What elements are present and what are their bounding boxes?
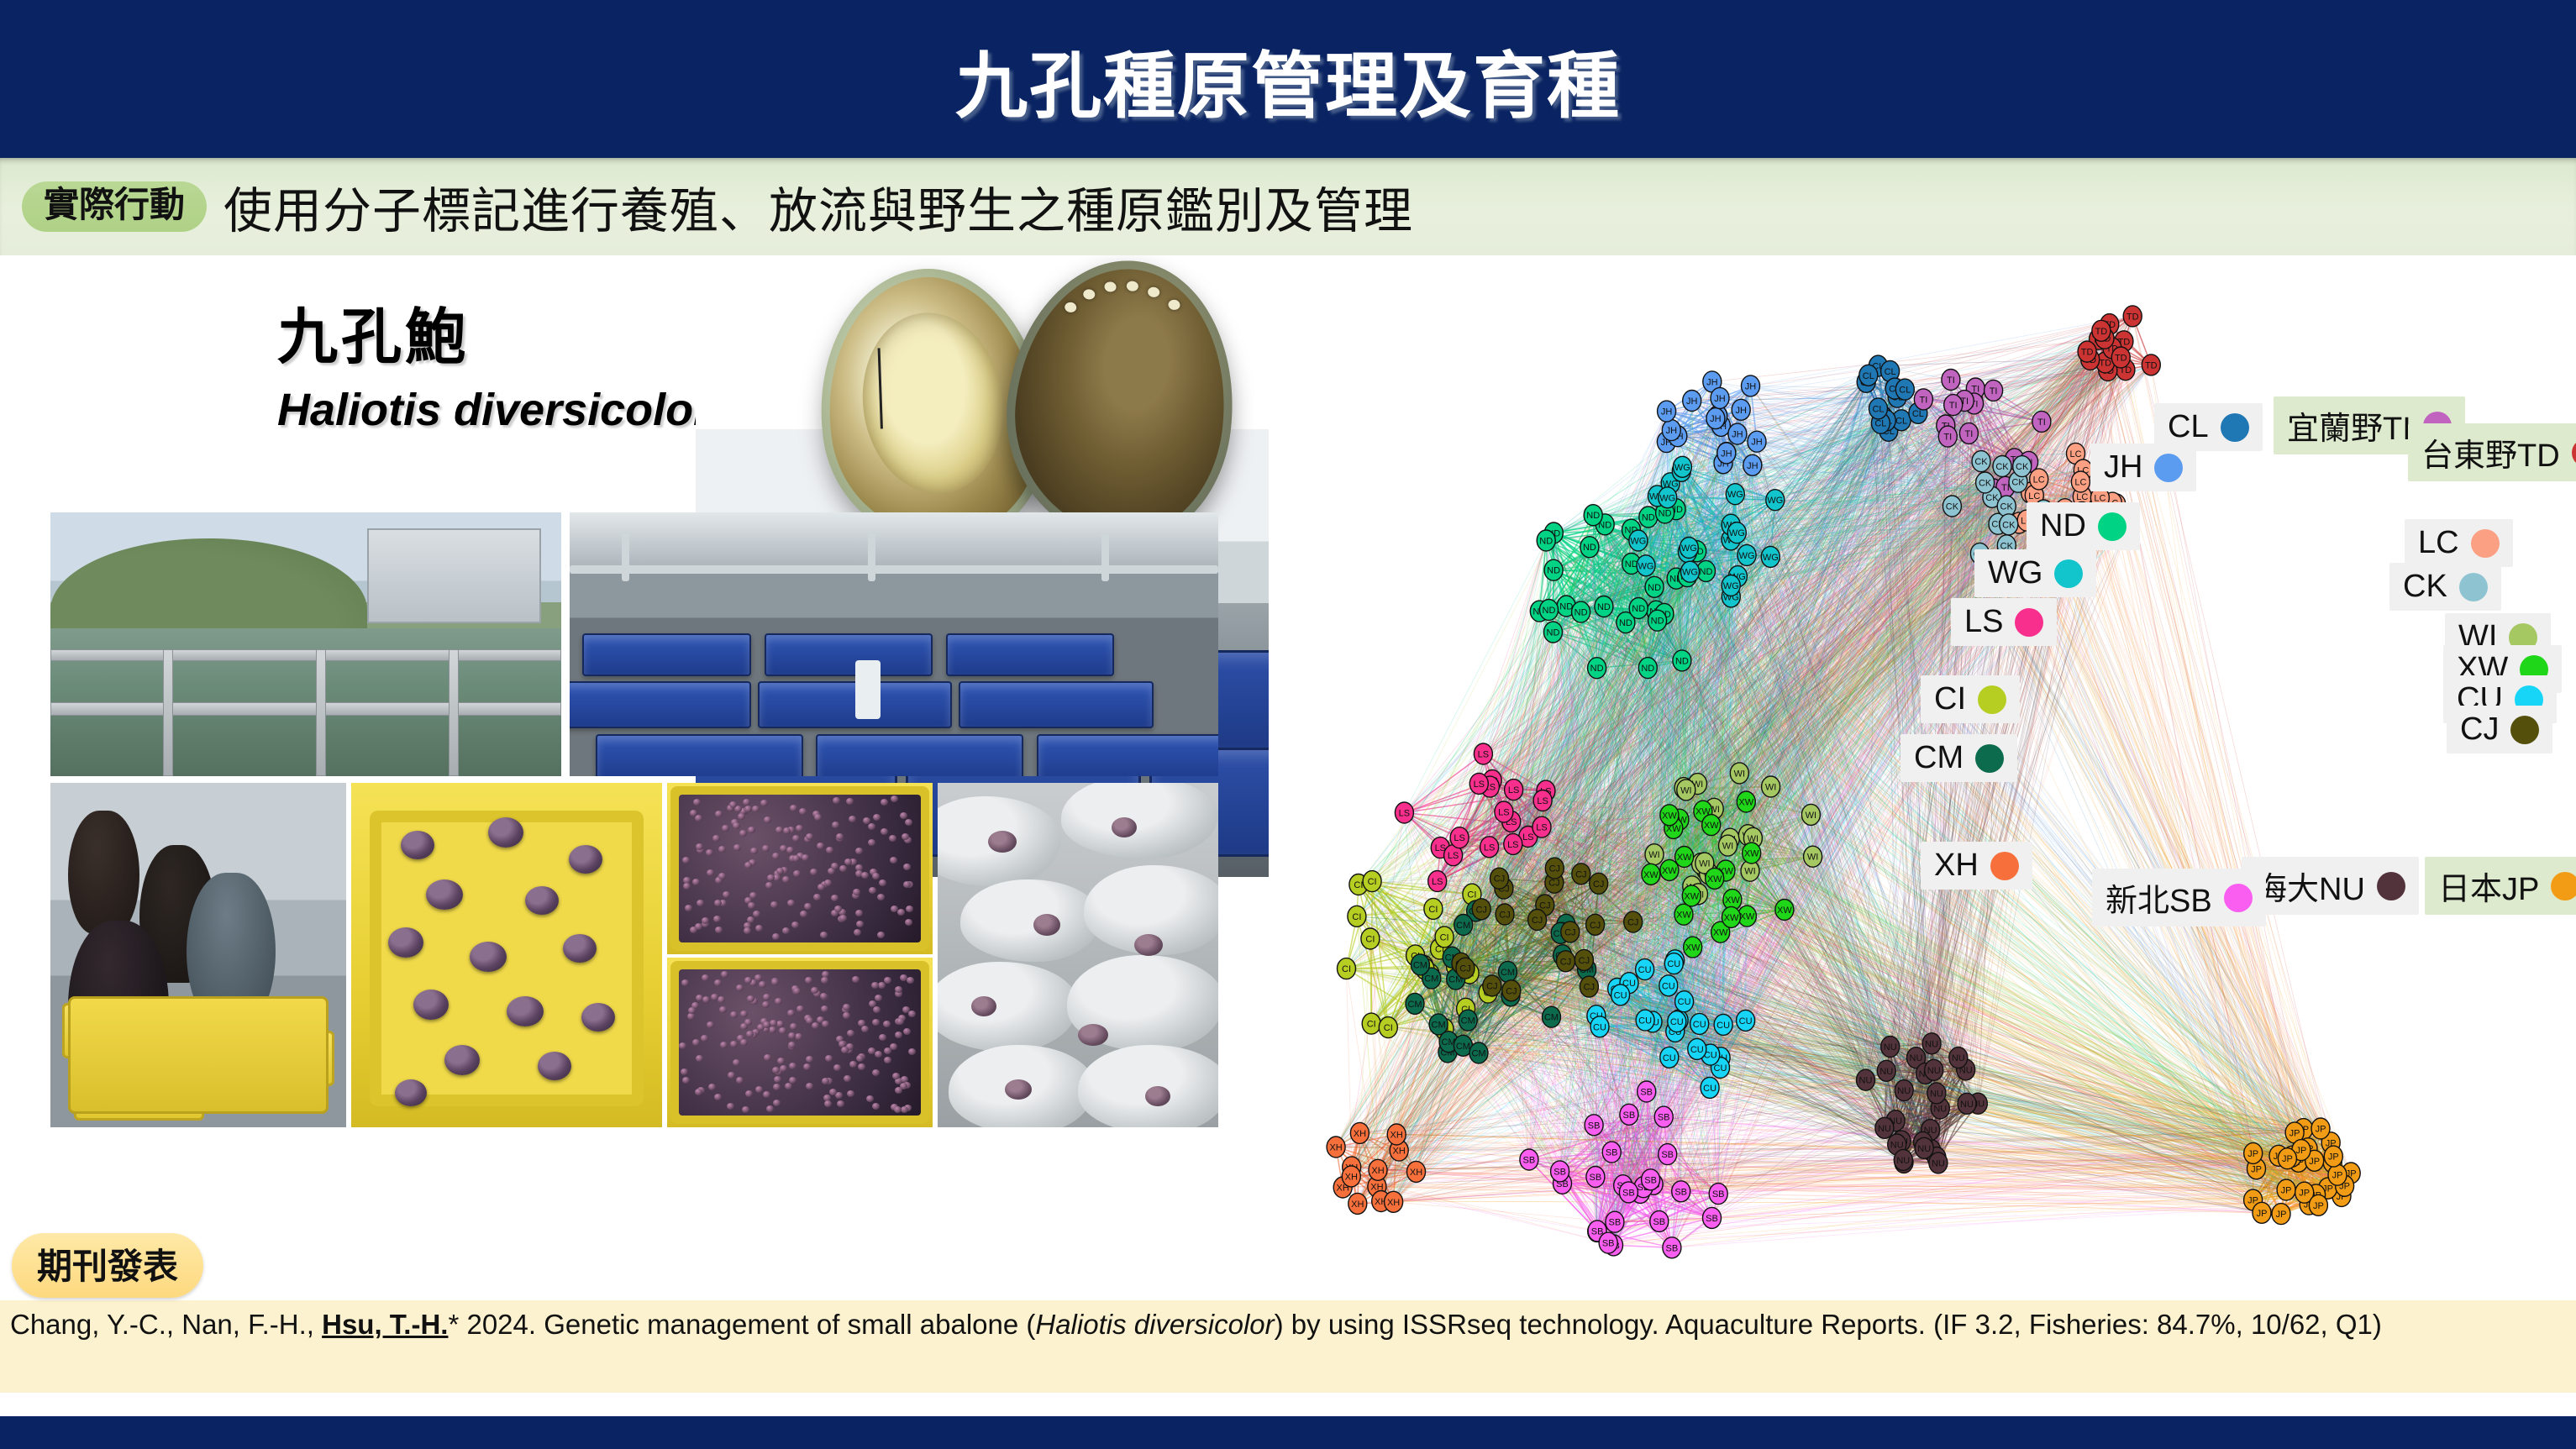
juvenile-abalone-dot — [763, 1091, 770, 1098]
juvenile-abalone-dot — [738, 813, 745, 820]
juvenile-abalone-dot — [742, 1106, 749, 1113]
legend-label: 海大NU — [2255, 863, 2365, 909]
network-node-label: CJ — [1539, 901, 1550, 911]
journal-publication-badge: 期刊發表 — [12, 1233, 203, 1298]
juvenile-abalone-dot — [821, 1005, 828, 1012]
network-node-label: TD — [2115, 354, 2127, 364]
legend-item-ck: CK — [2389, 563, 2501, 611]
network-node-label: ND — [1619, 618, 1632, 628]
network-node-label: CU — [1739, 1016, 1753, 1026]
network-node-label: WI — [1806, 811, 1816, 821]
juvenile-abalone-dot — [837, 1100, 844, 1107]
citation-species-italic: Haliotis diversicolor — [1035, 1309, 1274, 1340]
juvenile-abalone-dot — [908, 1011, 916, 1017]
network-node-label: JH — [1745, 381, 1757, 391]
juvenile-abalone-dot — [713, 916, 721, 922]
juvenile-abalone-dot — [763, 994, 770, 1000]
juvenile-abalone-dot — [832, 822, 839, 828]
population-network-graph: CLCLCLCLCLCLCLCLCLCLCLCLCLCLJHJHJHJHJHJH… — [1269, 255, 2576, 1300]
juvenile-abalone-dot — [881, 799, 888, 806]
network-node-label: LS — [1432, 877, 1443, 887]
legend-label: XH — [1934, 848, 1979, 884]
network-node-label: CK — [2000, 502, 2014, 512]
legend-item-ls: LS — [1951, 598, 2057, 646]
photo-yellow-tray-abalone — [351, 783, 662, 1127]
juvenile-abalone-dot — [722, 825, 729, 832]
legend-color-swatch — [2154, 454, 2183, 482]
network-node-label: NU — [1952, 1053, 1965, 1063]
juvenile-abalone-dot — [707, 869, 714, 876]
juvenile-abalone-dot — [868, 839, 875, 846]
juvenile-abalone-dot — [817, 884, 825, 890]
juvenile-abalone-dot — [753, 911, 760, 917]
network-node-label: NU — [1925, 1039, 1938, 1049]
network-node-label: ND — [1648, 583, 1661, 593]
network-node-label: SB — [1623, 1110, 1636, 1121]
network-node-label: CJ — [1593, 879, 1604, 890]
network-node-label: SB — [1658, 1113, 1670, 1123]
juvenile-abalone-dot — [861, 872, 869, 879]
juvenile-abalone-dot — [764, 816, 771, 823]
network-node-label: ND — [1625, 559, 1638, 570]
juvenile-abalone-dot — [695, 815, 702, 822]
network-node-label: WI — [1699, 859, 1710, 869]
network-node-label: JH — [1710, 414, 1721, 424]
legend-color-swatch — [2572, 438, 2576, 467]
network-node-label: TD — [2099, 359, 2111, 369]
juvenile-abalone-dot — [752, 806, 760, 812]
juvenile-abalone-dot — [872, 873, 880, 879]
network-node-label: WG — [1638, 561, 1654, 571]
network-node-label: CJ — [1560, 957, 1571, 967]
juvenile-abalone-dot — [905, 919, 912, 926]
juvenile-abalone-dot — [775, 827, 783, 833]
network-node-label: CL — [1912, 409, 1924, 419]
network-node-label: CM — [1461, 1016, 1475, 1026]
legend-label: CL — [2168, 409, 2209, 445]
juvenile-abalone-dot — [723, 891, 730, 898]
legend-label: JH — [2104, 449, 2142, 486]
juvenile-abalone-dot — [787, 1010, 795, 1016]
juvenile-abalone-dot — [740, 1011, 748, 1017]
network-node-label: JH — [1666, 426, 1678, 436]
network-node-label: JH — [1686, 396, 1698, 407]
network-node-label: LS — [1522, 832, 1533, 843]
juvenile-abalone-dot — [718, 996, 725, 1003]
legend-label: CK — [2403, 569, 2447, 605]
network-node-label: ND — [1539, 537, 1553, 547]
network-node-label: JP — [2299, 1189, 2310, 1199]
network-node-label: CI — [1428, 905, 1438, 915]
network-node-label: CM — [1424, 974, 1438, 984]
network-node-label: NU — [1910, 1053, 1923, 1063]
juvenile-abalone-dot — [802, 854, 809, 861]
network-node-label: XH — [1410, 1168, 1422, 1178]
juvenile-abalone-dot — [831, 895, 839, 901]
network-node-label: CJ — [1506, 986, 1517, 996]
action-badge: 實際行動 — [22, 181, 207, 232]
network-node-label: XH — [1351, 1200, 1364, 1210]
left-content-panel: 九孔鮑 Haliotis diversicolor — [0, 255, 1269, 1305]
juvenile-abalone-dot — [822, 1021, 829, 1027]
network-node-label: CM — [1413, 960, 1427, 970]
network-node-label: SB — [1666, 1243, 1679, 1253]
juvenile-abalone-dot — [861, 1026, 869, 1032]
network-node-label: WG — [1723, 581, 1739, 591]
juvenile-abalone-dot — [696, 843, 703, 850]
network-node-label: JP — [2295, 1146, 2306, 1156]
footer-spacer — [0, 1393, 2576, 1416]
network-node-label: NU — [1917, 1144, 1931, 1154]
network-node-label: XH — [1329, 1143, 1342, 1153]
juvenile-abalone-dot — [813, 894, 821, 900]
juvenile-abalone-dot — [697, 900, 704, 906]
network-node-label: NU — [1960, 1100, 1974, 1110]
legend-item-jp: 日本JP — [2425, 857, 2576, 915]
network-node-label: ND — [1675, 656, 1689, 666]
juvenile-abalone-dot — [847, 1090, 854, 1097]
juvenile-abalone-dot — [715, 927, 723, 933]
juvenile-abalone-dot — [868, 823, 875, 830]
juvenile-abalone-dot — [884, 1057, 891, 1063]
juvenile-abalone-dot — [782, 876, 790, 883]
network-node-label: CU — [1716, 1021, 1730, 1031]
juvenile-abalone-dot — [879, 1034, 886, 1041]
network-node-label: CM — [1544, 1013, 1559, 1023]
network-node-label: XW — [1704, 821, 1719, 831]
legend-color-swatch — [2098, 512, 2127, 541]
juvenile-abalone-dot — [755, 925, 763, 932]
network-node-label: SB — [1602, 1239, 1615, 1249]
juvenile-abalone-dot — [744, 927, 751, 934]
juvenile-abalone-dot — [791, 921, 799, 928]
juvenile-abalone-dot — [872, 1069, 880, 1076]
juvenile-abalone-dot — [693, 799, 701, 806]
juvenile-abalone-dot — [873, 814, 881, 821]
citation-authors-plain: Chang, Y.-C., Nan, F.-H., — [10, 1309, 322, 1340]
network-node-label: XW — [1677, 853, 1692, 863]
network-node-label: CJ — [1575, 869, 1586, 879]
network-node-label: JH — [1661, 407, 1673, 417]
network-node-label: LC — [2074, 478, 2086, 488]
juvenile-abalone-dot — [760, 800, 768, 806]
network-node-label: LS — [1537, 796, 1548, 806]
network-node-label: SB — [1661, 1150, 1674, 1160]
network-node-label: NU — [1933, 1105, 1947, 1115]
legend-color-swatch — [2224, 884, 2253, 912]
network-node-label: LS — [1484, 843, 1495, 853]
network-node-label: SB — [1609, 1218, 1622, 1228]
network-node-label: XH — [1354, 1129, 1366, 1139]
juvenile-abalone-dot — [858, 1063, 865, 1070]
slide-title-bar: 九孔種原管理及育種 — [0, 0, 2576, 158]
network-node-label: TI — [1947, 375, 1955, 386]
network-node-label: CL — [1872, 404, 1884, 414]
juvenile-abalone-dot — [720, 1042, 728, 1048]
network-node-label: CJ — [1564, 927, 1575, 937]
network-node-label: XW — [1740, 912, 1755, 922]
juvenile-abalone-dot — [773, 1100, 781, 1106]
juvenile-abalone-dot — [906, 906, 913, 912]
legend-color-swatch — [2015, 608, 2043, 637]
juvenile-abalone-dot — [822, 1078, 829, 1084]
network-node-label: JH — [1747, 461, 1759, 471]
juvenile-abalone-dot — [770, 901, 778, 908]
network-node-label: XW — [1662, 811, 1677, 821]
juvenile-abalone-dot — [852, 976, 860, 983]
network-node-label: XW — [1684, 891, 1699, 901]
legend-item-sb: 新北SB — [2092, 869, 2266, 927]
juvenile-abalone-dot — [843, 1004, 850, 1011]
network-node-label: SB — [1644, 1175, 1657, 1185]
network-node-label: ND — [1651, 617, 1664, 627]
network-node-label: CU — [1638, 965, 1652, 975]
juvenile-abalone-dot — [787, 900, 795, 906]
juvenile-abalone-dot — [889, 835, 896, 842]
network-node-label: CL — [1863, 371, 1874, 381]
legend-color-swatch — [1978, 685, 2006, 714]
juvenile-abalone-dot — [792, 855, 800, 862]
juvenile-abalone-dot — [846, 798, 854, 805]
network-node-label: CI — [1467, 890, 1476, 900]
network-node-label: CL — [1874, 419, 1886, 429]
network-node-label: JP — [2251, 1164, 2262, 1174]
juvenile-abalone-dot — [692, 1039, 700, 1046]
legend-item-jh: JH — [2090, 444, 2196, 491]
network-node-label: CU — [1690, 1045, 1704, 1055]
network-node-label: JH — [1735, 406, 1747, 416]
network-node-label: CK — [1985, 493, 1999, 503]
legend-color-swatch — [2221, 413, 2249, 442]
species-heading: 九孔鮑 Haliotis diversicolor — [277, 287, 711, 436]
network-node-label: TI — [2037, 417, 2046, 428]
network-node-label: TI — [1949, 401, 1958, 411]
network-node-label: CU — [1638, 1016, 1652, 1026]
network-node-label: CJ — [1486, 982, 1497, 992]
juvenile-abalone-dot — [806, 1083, 813, 1089]
network-node-label: ND — [1700, 567, 1713, 577]
juvenile-abalone-dot — [687, 1013, 695, 1020]
network-node-label: CL — [1899, 386, 1911, 396]
juvenile-abalone-dot — [770, 1020, 777, 1026]
juvenile-abalone-dot — [702, 996, 710, 1003]
network-node-label: WI — [1734, 769, 1745, 779]
network-node-label: CJ — [1548, 879, 1559, 889]
network-node-label: JP — [2328, 1152, 2339, 1163]
network-node-label: LC — [2033, 475, 2045, 485]
juvenile-abalone-dot — [718, 846, 726, 853]
juvenile-abalone-dot — [707, 1021, 714, 1028]
network-node-label: CK — [1995, 462, 2009, 472]
juvenile-abalone-dot — [793, 988, 801, 995]
juvenile-abalone-dot — [884, 1047, 891, 1054]
network-node-label: ND — [1659, 509, 1672, 519]
network-node-label: JP — [2313, 1201, 2324, 1211]
network-node-label: CI — [1365, 935, 1375, 945]
network-node-label: WI — [1680, 785, 1691, 795]
legend-color-swatch — [2377, 872, 2405, 900]
juvenile-abalone-dot — [740, 1039, 748, 1046]
network-node-label: NU — [1932, 1158, 1945, 1168]
juvenile-abalone-dot — [872, 1019, 880, 1026]
legend-item-cj: CJ — [2447, 706, 2552, 753]
network-node-label: LS — [1498, 808, 1509, 818]
legend-color-swatch — [1990, 852, 2019, 880]
juvenile-abalone-dot — [803, 1063, 811, 1070]
network-node-label: WG — [1659, 493, 1675, 503]
network-node-label: JH — [1721, 449, 1732, 459]
juvenile-abalone-dot — [692, 879, 700, 885]
juvenile-abalone-dot — [683, 883, 691, 890]
network-node-label: LS — [1508, 785, 1519, 795]
legend-label: LS — [1964, 604, 2003, 640]
network-node-label: XW — [1662, 866, 1677, 876]
juvenile-abalone-dot — [839, 865, 847, 872]
network-node-label: XW — [1713, 928, 1728, 938]
network-node-label: TI — [2001, 483, 2010, 493]
photo-hatchery-crates — [570, 512, 1218, 776]
network-node-label: SB — [1712, 1189, 1725, 1200]
network-node-label: XW — [1738, 798, 1753, 808]
network-node-label: SB — [1706, 1214, 1718, 1224]
juvenile-abalone-dot — [772, 933, 780, 940]
network-node-label: WI — [1807, 853, 1818, 863]
network-node-label: WG — [1727, 490, 1743, 500]
network-node-label: TI — [1943, 433, 1952, 443]
juvenile-abalone-dot — [721, 971, 728, 978]
juvenile-abalone-dot — [873, 1006, 881, 1013]
juvenile-abalone-dot — [881, 828, 888, 835]
network-node-label: CM — [1501, 968, 1515, 978]
network-node-label: LS — [1507, 840, 1518, 850]
network-node-label: CU — [1614, 990, 1627, 1000]
juvenile-abalone-dot — [891, 795, 898, 802]
network-node-label: SB — [1674, 1187, 1687, 1197]
juvenile-abalone-dot — [773, 1084, 781, 1090]
network-node-label: WG — [1674, 463, 1690, 473]
juvenile-abalone-dot — [730, 1011, 738, 1018]
juvenile-abalone-dot — [811, 987, 818, 994]
network-node-label: ND — [1641, 664, 1654, 674]
juvenile-abalone-dot — [856, 921, 864, 927]
juvenile-abalone-dot — [744, 977, 752, 984]
network-node-label: WG — [1681, 543, 1697, 554]
juvenile-abalone-dot — [783, 827, 791, 834]
juvenile-abalone-dot — [825, 1055, 833, 1062]
network-node-label: TD — [2095, 327, 2108, 337]
legend-color-swatch — [2054, 559, 2083, 588]
network-node-label: CI — [1368, 877, 1377, 887]
network-node-label: SB — [1588, 1121, 1601, 1131]
juvenile-abalone-dot — [744, 806, 752, 812]
network-node-label: CU — [1678, 997, 1691, 1007]
juvenile-abalone-dot — [824, 1100, 832, 1107]
juvenile-abalone-dot — [788, 1042, 796, 1048]
photo-rock-substrate — [938, 783, 1218, 1127]
network-node-label: SB — [1553, 1167, 1566, 1177]
network-node-label: JP — [2316, 1125, 2326, 1135]
legend-color-swatch — [1975, 744, 2004, 773]
juvenile-abalone-dot — [690, 810, 697, 816]
network-node-label: CI — [1352, 912, 1361, 922]
network-node-label: WG — [1767, 496, 1783, 506]
juvenile-abalone-dot — [820, 932, 828, 938]
juvenile-abalone-dot — [800, 911, 807, 917]
juvenile-abalone-dot — [785, 1083, 792, 1089]
legend-item-lc: LC — [2405, 519, 2513, 567]
juvenile-abalone-dot — [739, 830, 747, 837]
juvenile-abalone-dot — [905, 819, 912, 826]
juvenile-abalone-dot — [907, 977, 914, 984]
juvenile-abalone-dot — [759, 981, 766, 988]
juvenile-abalone-dot — [685, 905, 692, 911]
photo-workers-sorting — [50, 783, 346, 1127]
juvenile-abalone-dot — [736, 1077, 744, 1084]
juvenile-abalone-dot — [844, 858, 852, 865]
network-node-label: SB — [1640, 1088, 1653, 1098]
network-node-label: JP — [2257, 1209, 2268, 1219]
network-node-label: WG — [1739, 551, 1755, 561]
juvenile-abalone-dot — [849, 816, 856, 822]
juvenile-abalone-dot — [749, 892, 757, 899]
network-node-label: XW — [1643, 870, 1659, 880]
juvenile-abalone-dot — [796, 1005, 804, 1012]
network-node-label: CJ — [1532, 916, 1543, 926]
juvenile-abalone-dot — [762, 1001, 770, 1008]
juvenile-abalone-dot — [774, 1076, 781, 1083]
subtitle-text: 使用分子標記進行養殖、放流與野生之種原鑑別及管理 — [223, 171, 1413, 242]
juvenile-abalone-dot — [776, 1021, 784, 1027]
network-node-label: CK — [2016, 462, 2029, 472]
juvenile-abalone-dot — [814, 814, 822, 821]
juvenile-abalone-dot — [727, 1103, 734, 1110]
legend-label: CM — [1914, 740, 1964, 776]
network-node-label: JP — [2309, 1157, 2320, 1167]
network-node-label: CI — [1440, 932, 1449, 942]
network-node-label: CU — [1670, 1017, 1684, 1027]
network-node-label: CM — [1456, 1042, 1470, 1052]
juvenile-abalone-dot — [894, 1106, 902, 1113]
network-node-label: CM — [1407, 1000, 1422, 1010]
juvenile-abalone-dot — [779, 1027, 786, 1034]
juvenile-abalone-dot — [714, 1094, 722, 1100]
network-node-label: NU — [1878, 1124, 1891, 1134]
juvenile-abalone-dot — [900, 1083, 907, 1089]
network-node-label: ND — [1575, 608, 1588, 618]
network-node-label: WG — [1682, 568, 1698, 578]
legend-color-swatch — [2551, 872, 2576, 900]
citation-middle: * 2024. Genetic management of small abal… — [448, 1309, 1035, 1340]
network-node-label: NU — [1890, 1141, 1904, 1151]
juvenile-abalone-dot — [765, 882, 773, 889]
juvenile-abalone-dot — [892, 1073, 900, 1079]
network-node-label: XW — [1744, 849, 1759, 859]
network-node-label: CJ — [1584, 983, 1595, 993]
juvenile-abalone-dot — [712, 835, 720, 842]
network-node-label: LS — [1454, 833, 1464, 843]
juvenile-abalone-dot — [900, 812, 907, 819]
network-node-label: WI — [1648, 850, 1659, 860]
legend-item-td: 台東野TD — [2408, 423, 2576, 481]
network-node-label: CM — [1471, 1049, 1485, 1059]
network-node-label: XW — [1725, 895, 1740, 906]
network-node-label: CK — [1946, 502, 1959, 512]
juvenile-abalone-dot — [843, 1012, 850, 1019]
legend-item-nu: 海大NU — [2242, 857, 2419, 915]
juvenile-abalone-dot — [806, 1056, 813, 1063]
network-node-label: SB — [1653, 1217, 1665, 1227]
juvenile-abalone-dot — [839, 915, 847, 921]
